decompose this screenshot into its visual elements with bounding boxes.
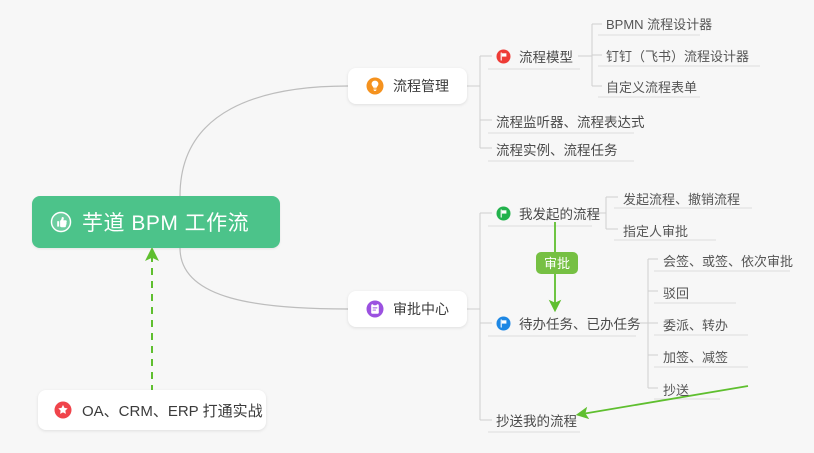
thumbs-up-icon — [50, 211, 72, 233]
leaf-countersign-approval[interactable]: 会签、或签、依次审批 — [657, 247, 799, 273]
leaf-dingtalk-feishu-designer[interactable]: 钉钉（飞书）流程设计器 — [600, 42, 755, 68]
root-label: 芋道 BPM 工作流 — [82, 207, 249, 237]
clipboard-purple-icon — [366, 300, 384, 318]
leaf-label: 加签、减签 — [663, 347, 728, 366]
sub-todo-done-tasks-label: 待办任务、已办任务 — [519, 313, 641, 333]
sub-my-initiated-process[interactable]: 我发起的流程 — [490, 199, 606, 227]
lightbulb-icon — [366, 77, 384, 95]
flag-blue-icon — [496, 316, 511, 331]
leaf-assigned-approver[interactable]: 指定人审批 — [617, 217, 694, 243]
sub-process-listener[interactable]: 流程监听器、流程表达式 — [490, 107, 651, 135]
practice-note-label: OA、CRM、ERP 打通实战 — [82, 400, 263, 421]
leaf-label: 抄送 — [663, 380, 689, 399]
approval-edge-label: 审批 — [536, 252, 578, 274]
approval-edge-label-text: 审批 — [544, 257, 570, 270]
sub-todo-done-tasks[interactable]: 待办任务、已办任务 — [490, 309, 647, 337]
sub-label: 流程实例、流程任务 — [496, 139, 618, 159]
sub-my-initiated-process-label: 我发起的流程 — [519, 203, 600, 223]
branch-approval-center[interactable]: 审批中心 — [348, 291, 467, 327]
leaf-label: 驳回 — [663, 283, 689, 302]
leaf-add-remove-signer[interactable]: 加签、减签 — [657, 343, 734, 369]
sub-process-model-label: 流程模型 — [519, 46, 573, 66]
branch-process-management-label: 流程管理 — [393, 76, 449, 96]
leaf-delegate-transfer[interactable]: 委派、转办 — [657, 311, 734, 337]
sub-process-instance[interactable]: 流程实例、流程任务 — [490, 135, 624, 163]
leaf-label: 钉钉（飞书）流程设计器 — [606, 46, 749, 65]
sub-cc-to-me-process[interactable]: 抄送我的流程 — [490, 406, 583, 434]
branch-process-management[interactable]: 流程管理 — [348, 68, 467, 104]
branch-approval-center-label: 审批中心 — [393, 299, 449, 319]
mindmap-canvas: 芋道 BPM 工作流 OA、CRM、ERP 打通实战 流程管理 — [0, 0, 814, 453]
leaf-reject[interactable]: 驳回 — [657, 279, 695, 305]
star-icon — [54, 401, 72, 419]
sub-label: 抄送我的流程 — [496, 410, 577, 430]
flag-red-icon — [496, 49, 511, 64]
leaf-bpmn-designer[interactable]: BPMN 流程设计器 — [600, 10, 718, 36]
leaf-label: 指定人审批 — [623, 221, 688, 240]
leaf-label: 委派、转办 — [663, 315, 728, 334]
flag-green-icon — [496, 206, 511, 221]
leaf-label: BPMN 流程设计器 — [606, 14, 712, 33]
leaf-custom-process-form[interactable]: 自定义流程表单 — [600, 73, 703, 99]
sub-label: 流程监听器、流程表达式 — [496, 111, 645, 131]
root-node[interactable]: 芋道 BPM 工作流 — [32, 196, 280, 248]
leaf-label: 自定义流程表单 — [606, 77, 697, 96]
leaf-label: 会签、或签、依次审批 — [663, 251, 793, 270]
leaf-start-cancel-process[interactable]: 发起流程、撤销流程 — [617, 185, 746, 211]
leaf-cc[interactable]: 抄送 — [657, 376, 695, 402]
leaf-label: 发起流程、撤销流程 — [623, 189, 740, 208]
sub-process-model[interactable]: 流程模型 — [490, 42, 579, 70]
practice-note-card[interactable]: OA、CRM、ERP 打通实战 — [38, 390, 266, 430]
